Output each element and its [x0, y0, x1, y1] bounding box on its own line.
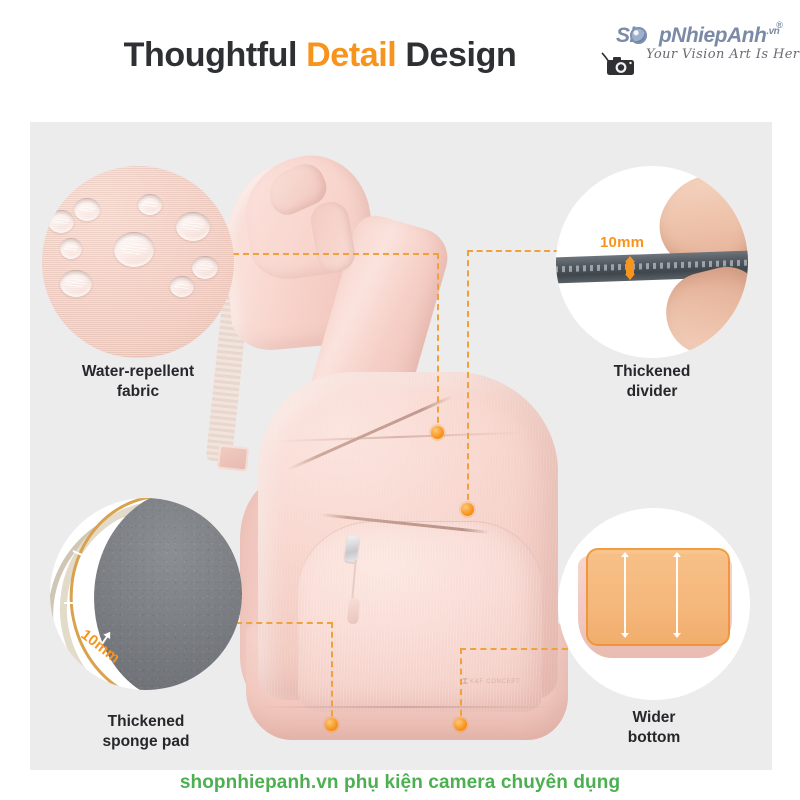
bottom-width-arrow — [676, 556, 678, 634]
hotspot-thickened-divider — [461, 503, 474, 516]
bottom-area-highlight — [586, 548, 730, 646]
feature-caption-thickened-divider: Thickened divider — [556, 362, 748, 402]
brand-text: K&F CONCEPT — [470, 679, 520, 685]
pad-thickness-arrow — [64, 602, 86, 604]
connector-sponge-horizontal — [236, 622, 333, 624]
strap-buckle — [217, 444, 249, 471]
bottom-width-arrow — [624, 556, 626, 634]
title-part-3: Design — [396, 36, 516, 74]
connector-wider-vertical — [460, 648, 462, 726]
connector-sponge-vertical — [331, 622, 333, 726]
water-droplet — [114, 232, 154, 267]
divider-thickness-arrow — [626, 261, 634, 275]
title-highlight: Detail — [306, 36, 396, 74]
hotspot-wider-bottom — [454, 718, 467, 731]
feature-caption-sponge-pad: Thickened sponge pad — [50, 712, 242, 752]
product-brand-label: K&F CONCEPT — [462, 678, 520, 685]
infographic-canvas: Thoughtful Detail Design ShpNhiepAnh.vn®… — [0, 0, 800, 800]
title-part-1: Thoughtful — [124, 36, 307, 74]
water-droplet — [60, 270, 92, 297]
water-droplet — [192, 256, 218, 279]
feature-image-wider-bottom — [558, 508, 750, 700]
feature-image-water-repellent — [42, 166, 234, 358]
watermark-logo: ShpNhiepAnh.vn® Your Vision Art Is Here! — [590, 24, 786, 78]
product-image: K&F CONCEPT — [210, 150, 600, 750]
page-title: Thoughtful Detail Design — [0, 36, 640, 75]
brand-mark-icon — [462, 678, 468, 684]
water-droplet — [176, 212, 210, 241]
zipper-tab — [347, 598, 360, 625]
water-droplet — [60, 238, 82, 259]
hotspot-sponge-pad — [325, 718, 338, 731]
footer-text: shopnhiepanh.vn phụ kiện camera chuyên d… — [0, 772, 800, 794]
connector-divider-vertical — [467, 250, 469, 510]
feature-image-sponge-pad: 10mm — [50, 498, 242, 690]
camera-icon — [596, 50, 642, 76]
watermark-tagline: Your Vision Art Is Here! — [646, 47, 800, 62]
connector-wider-horizontal — [460, 648, 578, 650]
water-droplet — [48, 210, 74, 233]
water-droplet — [138, 194, 162, 215]
feature-caption-wider-bottom: Wider bottom — [558, 708, 750, 748]
water-droplet — [74, 198, 100, 221]
registered-icon: ® — [776, 20, 782, 30]
water-droplet — [170, 276, 194, 297]
feature-image-thickened-divider: 10mm — [556, 166, 748, 358]
divider-measurement-label: 10mm — [600, 234, 644, 251]
connector-water-horizontal — [233, 253, 439, 255]
hotspot-water-repellent — [431, 426, 444, 439]
watermark-brand-post: pNhiepAnh — [659, 24, 766, 47]
feature-caption-water-repellent: Water-repellent fabric — [42, 362, 234, 402]
bag-bottom-seam — [256, 706, 556, 708]
connector-water-vertical — [437, 253, 439, 433]
camera-aperture-icon — [630, 27, 647, 44]
